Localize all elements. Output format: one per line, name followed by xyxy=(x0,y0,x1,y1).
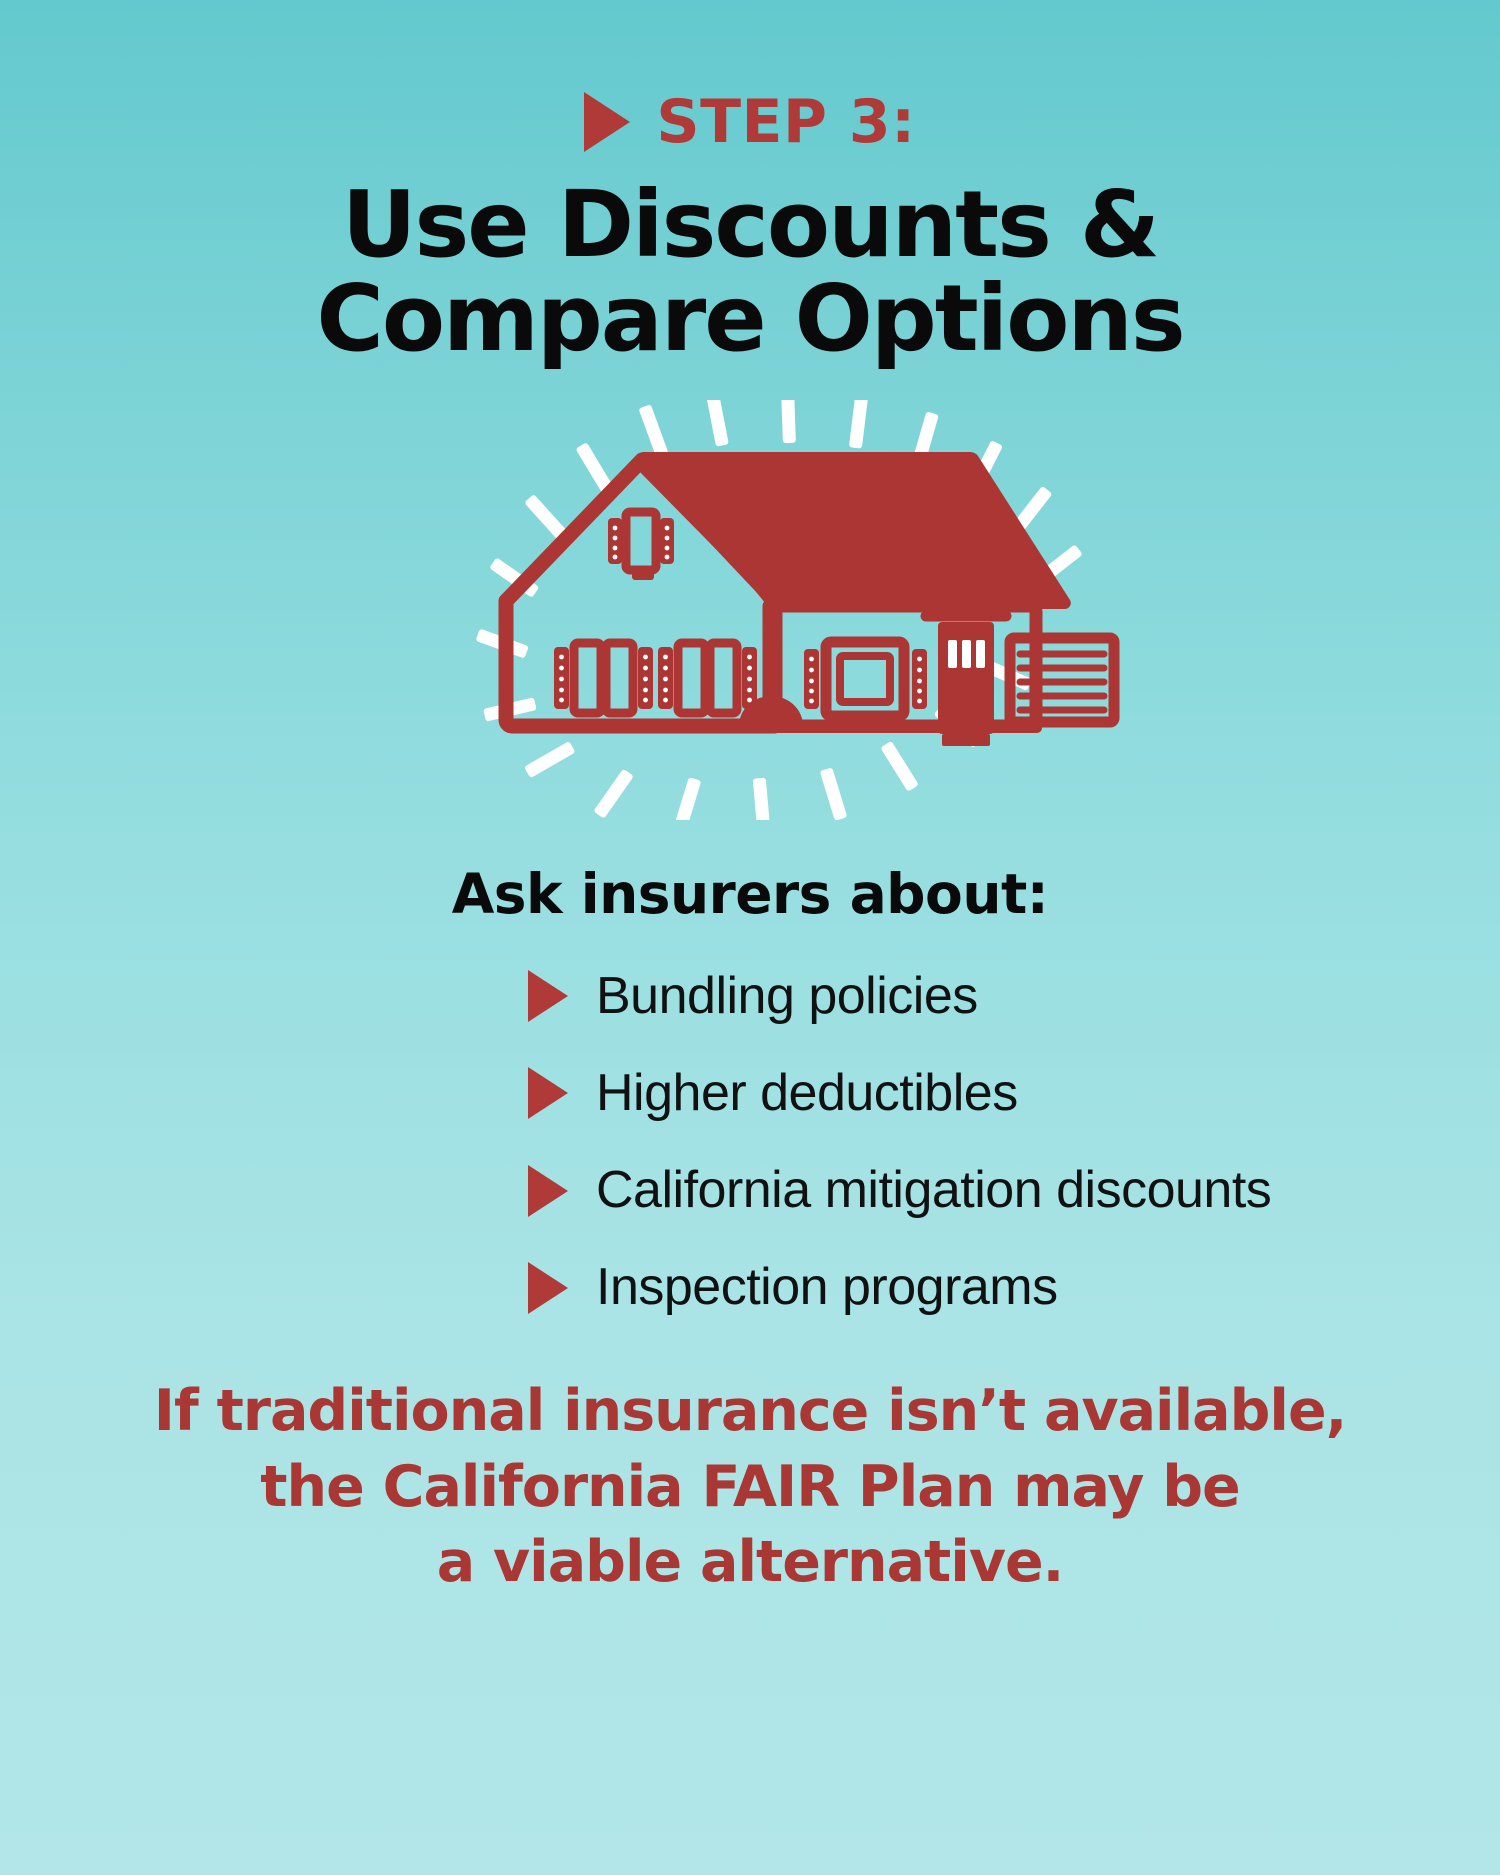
infographic-poster: STEP 3: Use Discounts & Compare Options xyxy=(0,0,1500,1875)
list-item: Higher deductibles xyxy=(528,1065,1250,1122)
house-with-shine-rays-icon xyxy=(370,400,1130,820)
right-triangle-icon xyxy=(528,1067,568,1119)
page-title-line2: Compare Options xyxy=(110,272,1390,366)
list-item-label: Higher deductibles xyxy=(596,1065,1018,1122)
page-title-line1: Use Discounts & xyxy=(342,171,1158,278)
discount-list: Bundling policies Higher deductibles Cal… xyxy=(250,968,1250,1317)
list-item-label: Bundling policies xyxy=(596,968,978,1025)
picture-window-icon xyxy=(804,642,927,716)
footnote-line1: If traditional insurance isn’t available… xyxy=(80,1374,1420,1449)
garage-door-icon xyxy=(1010,638,1114,722)
step-eyebrow: STEP 3: xyxy=(584,92,915,152)
list-item: Inspection programs xyxy=(528,1259,1250,1316)
footnote-line3: a viable alternative. xyxy=(80,1525,1420,1600)
right-triangle-icon xyxy=(528,970,568,1022)
footnote: If traditional insurance isn’t available… xyxy=(80,1374,1420,1600)
list-item: California mitigation discounts xyxy=(528,1162,1250,1219)
house-group xyxy=(506,452,1114,746)
house-illustration xyxy=(370,400,1130,820)
list-item-label: Inspection programs xyxy=(596,1259,1058,1316)
step-label: STEP 3: xyxy=(656,92,915,152)
footnote-line2: the California FAIR Plan may be xyxy=(80,1450,1420,1525)
right-triangle-icon xyxy=(528,1262,568,1314)
window-bank-right-icon xyxy=(658,643,757,713)
attic-window-icon xyxy=(608,512,674,580)
ground-line xyxy=(506,720,1042,733)
list-item-label: California mitigation discounts xyxy=(596,1162,1271,1219)
right-triangle-icon xyxy=(528,1165,568,1217)
page-title: Use Discounts & Compare Options xyxy=(110,178,1390,366)
window-bank-left-icon xyxy=(554,643,653,713)
ask-insurers-label: Ask insurers about: xyxy=(452,862,1049,926)
list-item: Bundling policies xyxy=(528,968,1250,1025)
right-triangle-icon xyxy=(584,92,630,152)
